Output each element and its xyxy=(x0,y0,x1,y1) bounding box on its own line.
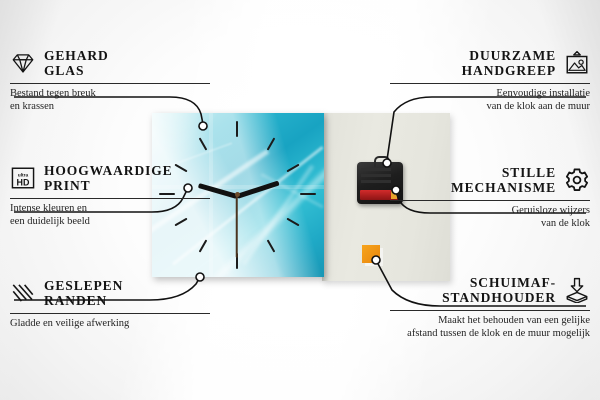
feature-desc-line1: Geruisloze wijzers xyxy=(390,205,590,218)
clock-tick xyxy=(199,137,208,150)
clock-tick xyxy=(267,137,276,150)
clock-tick xyxy=(236,121,238,137)
divider xyxy=(390,310,590,311)
feature-header: DUURZAME HANDGREEP xyxy=(390,48,590,78)
feature-desc-line1: Maakt het behouden van een gelijke xyxy=(390,315,590,328)
feature-header: GEHARD GLAS xyxy=(10,48,210,78)
feature-desc-line2: van de klok aan de muur xyxy=(390,101,590,114)
ultra-hd-icon: ultra HD xyxy=(10,165,36,191)
diamond-icon xyxy=(10,50,36,76)
feature-gehard-glas: GEHARD GLAS Bestand tegen breuk en krass… xyxy=(10,48,210,113)
feature-stille-mechanisme: STILLE MECHANISME Geruisloze wijzers van… xyxy=(390,165,590,230)
divider xyxy=(10,198,210,199)
clock-center-pin xyxy=(235,192,240,197)
divider xyxy=(390,83,590,84)
feature-header: SCHUIMAF- STANDHOUDER xyxy=(390,275,590,305)
feature-desc-line1: Eenvoudige installatie xyxy=(390,88,590,101)
divider xyxy=(10,83,210,84)
feature-title: GESLEPEN RANDEN xyxy=(44,278,123,308)
feature-header: ultra HD HOOGWAARDIGE PRINT xyxy=(10,163,210,193)
clock-second-hand xyxy=(236,196,238,258)
ground-edges-icon xyxy=(10,280,36,306)
feature-desc-line2: een duidelijk beeld xyxy=(10,216,210,229)
feature-desc-line2: afstand tussen de klok en de muur mogeli… xyxy=(390,328,590,341)
svg-text:HD: HD xyxy=(17,177,30,187)
feature-schuimafstandhouder: SCHUIMAF- STANDHOUDER Maakt het behouden… xyxy=(390,275,590,340)
feature-title: DUURZAME HANDGREEP xyxy=(462,48,556,78)
divider xyxy=(10,313,210,314)
feature-title: GEHARD GLAS xyxy=(44,48,109,78)
feature-title: HOOGWAARDIGE PRINT xyxy=(44,163,173,193)
feature-title: STILLE MECHANISME xyxy=(451,165,556,195)
foam-spacer-pad xyxy=(362,245,380,263)
feature-header: GESLEPEN RANDEN xyxy=(10,278,210,308)
feature-desc-line1: Intense kleuren en xyxy=(10,203,210,216)
feature-desc-line1: Gladde en veilige afwerking xyxy=(10,318,210,331)
feature-desc-line1: Bestand tegen breuk xyxy=(10,88,210,101)
feature-duurzame-handgreep: DUURZAME HANDGREEP Eenvoudige installati… xyxy=(390,48,590,113)
picture-hanger-icon xyxy=(564,50,590,76)
feature-title: SCHUIMAF- STANDHOUDER xyxy=(442,275,556,305)
clock-tick xyxy=(286,218,299,227)
gear-icon xyxy=(564,167,590,193)
divider xyxy=(390,200,590,201)
feature-geslepen-randen: GESLEPEN RANDEN Gladde en veilige afwerk… xyxy=(10,278,210,331)
clock-tick xyxy=(267,239,276,252)
feature-desc-line2: van de klok xyxy=(390,218,590,231)
infographic-canvas: GEHARD GLAS Bestand tegen breuk en krass… xyxy=(0,0,600,400)
feature-desc-line2: en krassen xyxy=(10,101,210,114)
clock-tick xyxy=(300,193,316,195)
foam-spacer-icon xyxy=(564,277,590,303)
mechanism-label xyxy=(361,168,391,171)
feature-header: STILLE MECHANISME xyxy=(390,165,590,195)
mechanism-hook xyxy=(374,156,390,167)
feature-hoogwaardige-print: ultra HD HOOGWAARDIGE PRINT Intense kleu… xyxy=(10,163,210,228)
